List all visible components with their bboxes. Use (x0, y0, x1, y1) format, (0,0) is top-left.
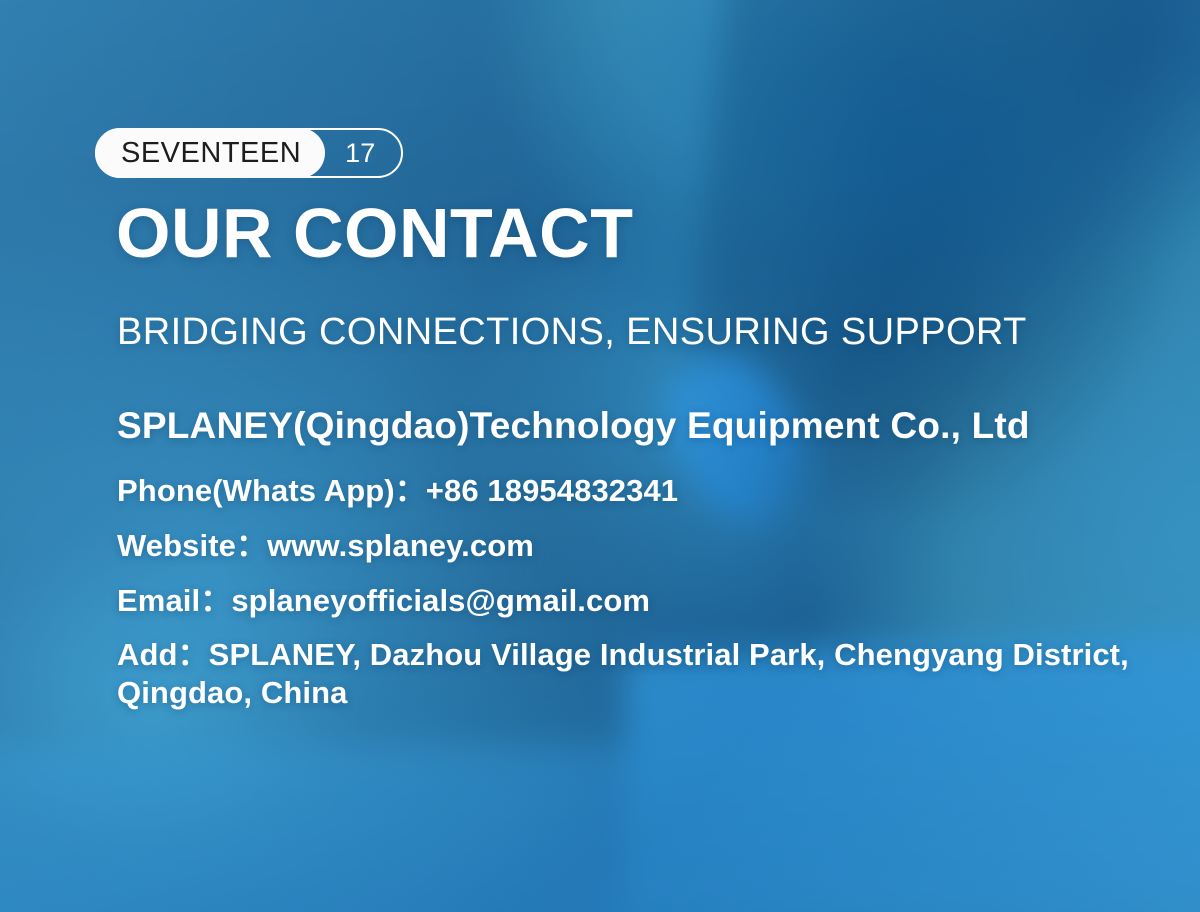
section-badge: SEVENTEEN 17 (95, 128, 403, 178)
section-badge-word: SEVENTEEN (95, 128, 325, 178)
email-label: Email： (117, 583, 231, 618)
contact-line-address: Add：SPLANEY, Dazhou Village Industrial P… (117, 636, 1157, 712)
page-subtitle: BRIDGING CONNECTIONS, ENSURING SUPPORT (117, 313, 1027, 351)
contact-line-email: Email：splaneyofficials@gmail.com (117, 582, 1157, 620)
contact-line-phone: Phone(Whats App)：+86 18954832341 (117, 472, 1157, 510)
page-title: OUR CONTACT (116, 198, 633, 268)
phone-value[interactable]: +86 18954832341 (426, 473, 678, 508)
address-label: Add： (117, 637, 209, 672)
contact-slide: SEVENTEEN 17 OUR CONTACT BRIDGING CONNEC… (0, 0, 1200, 912)
section-badge-number: 17 (325, 130, 401, 176)
contact-details-block: SPLANEY(Qingdao)Technology Equipment Co.… (117, 406, 1157, 712)
website-label: Website： (117, 528, 267, 563)
company-name: SPLANEY(Qingdao)Technology Equipment Co.… (117, 406, 1157, 446)
phone-label: Phone(Whats App)： (117, 473, 426, 508)
website-value[interactable]: www.splaney.com (267, 528, 534, 563)
email-value[interactable]: splaneyofficials@gmail.com (231, 583, 650, 618)
address-value: SPLANEY, Dazhou Village Industrial Park,… (117, 637, 1129, 710)
contact-line-website: Website：www.splaney.com (117, 527, 1157, 565)
